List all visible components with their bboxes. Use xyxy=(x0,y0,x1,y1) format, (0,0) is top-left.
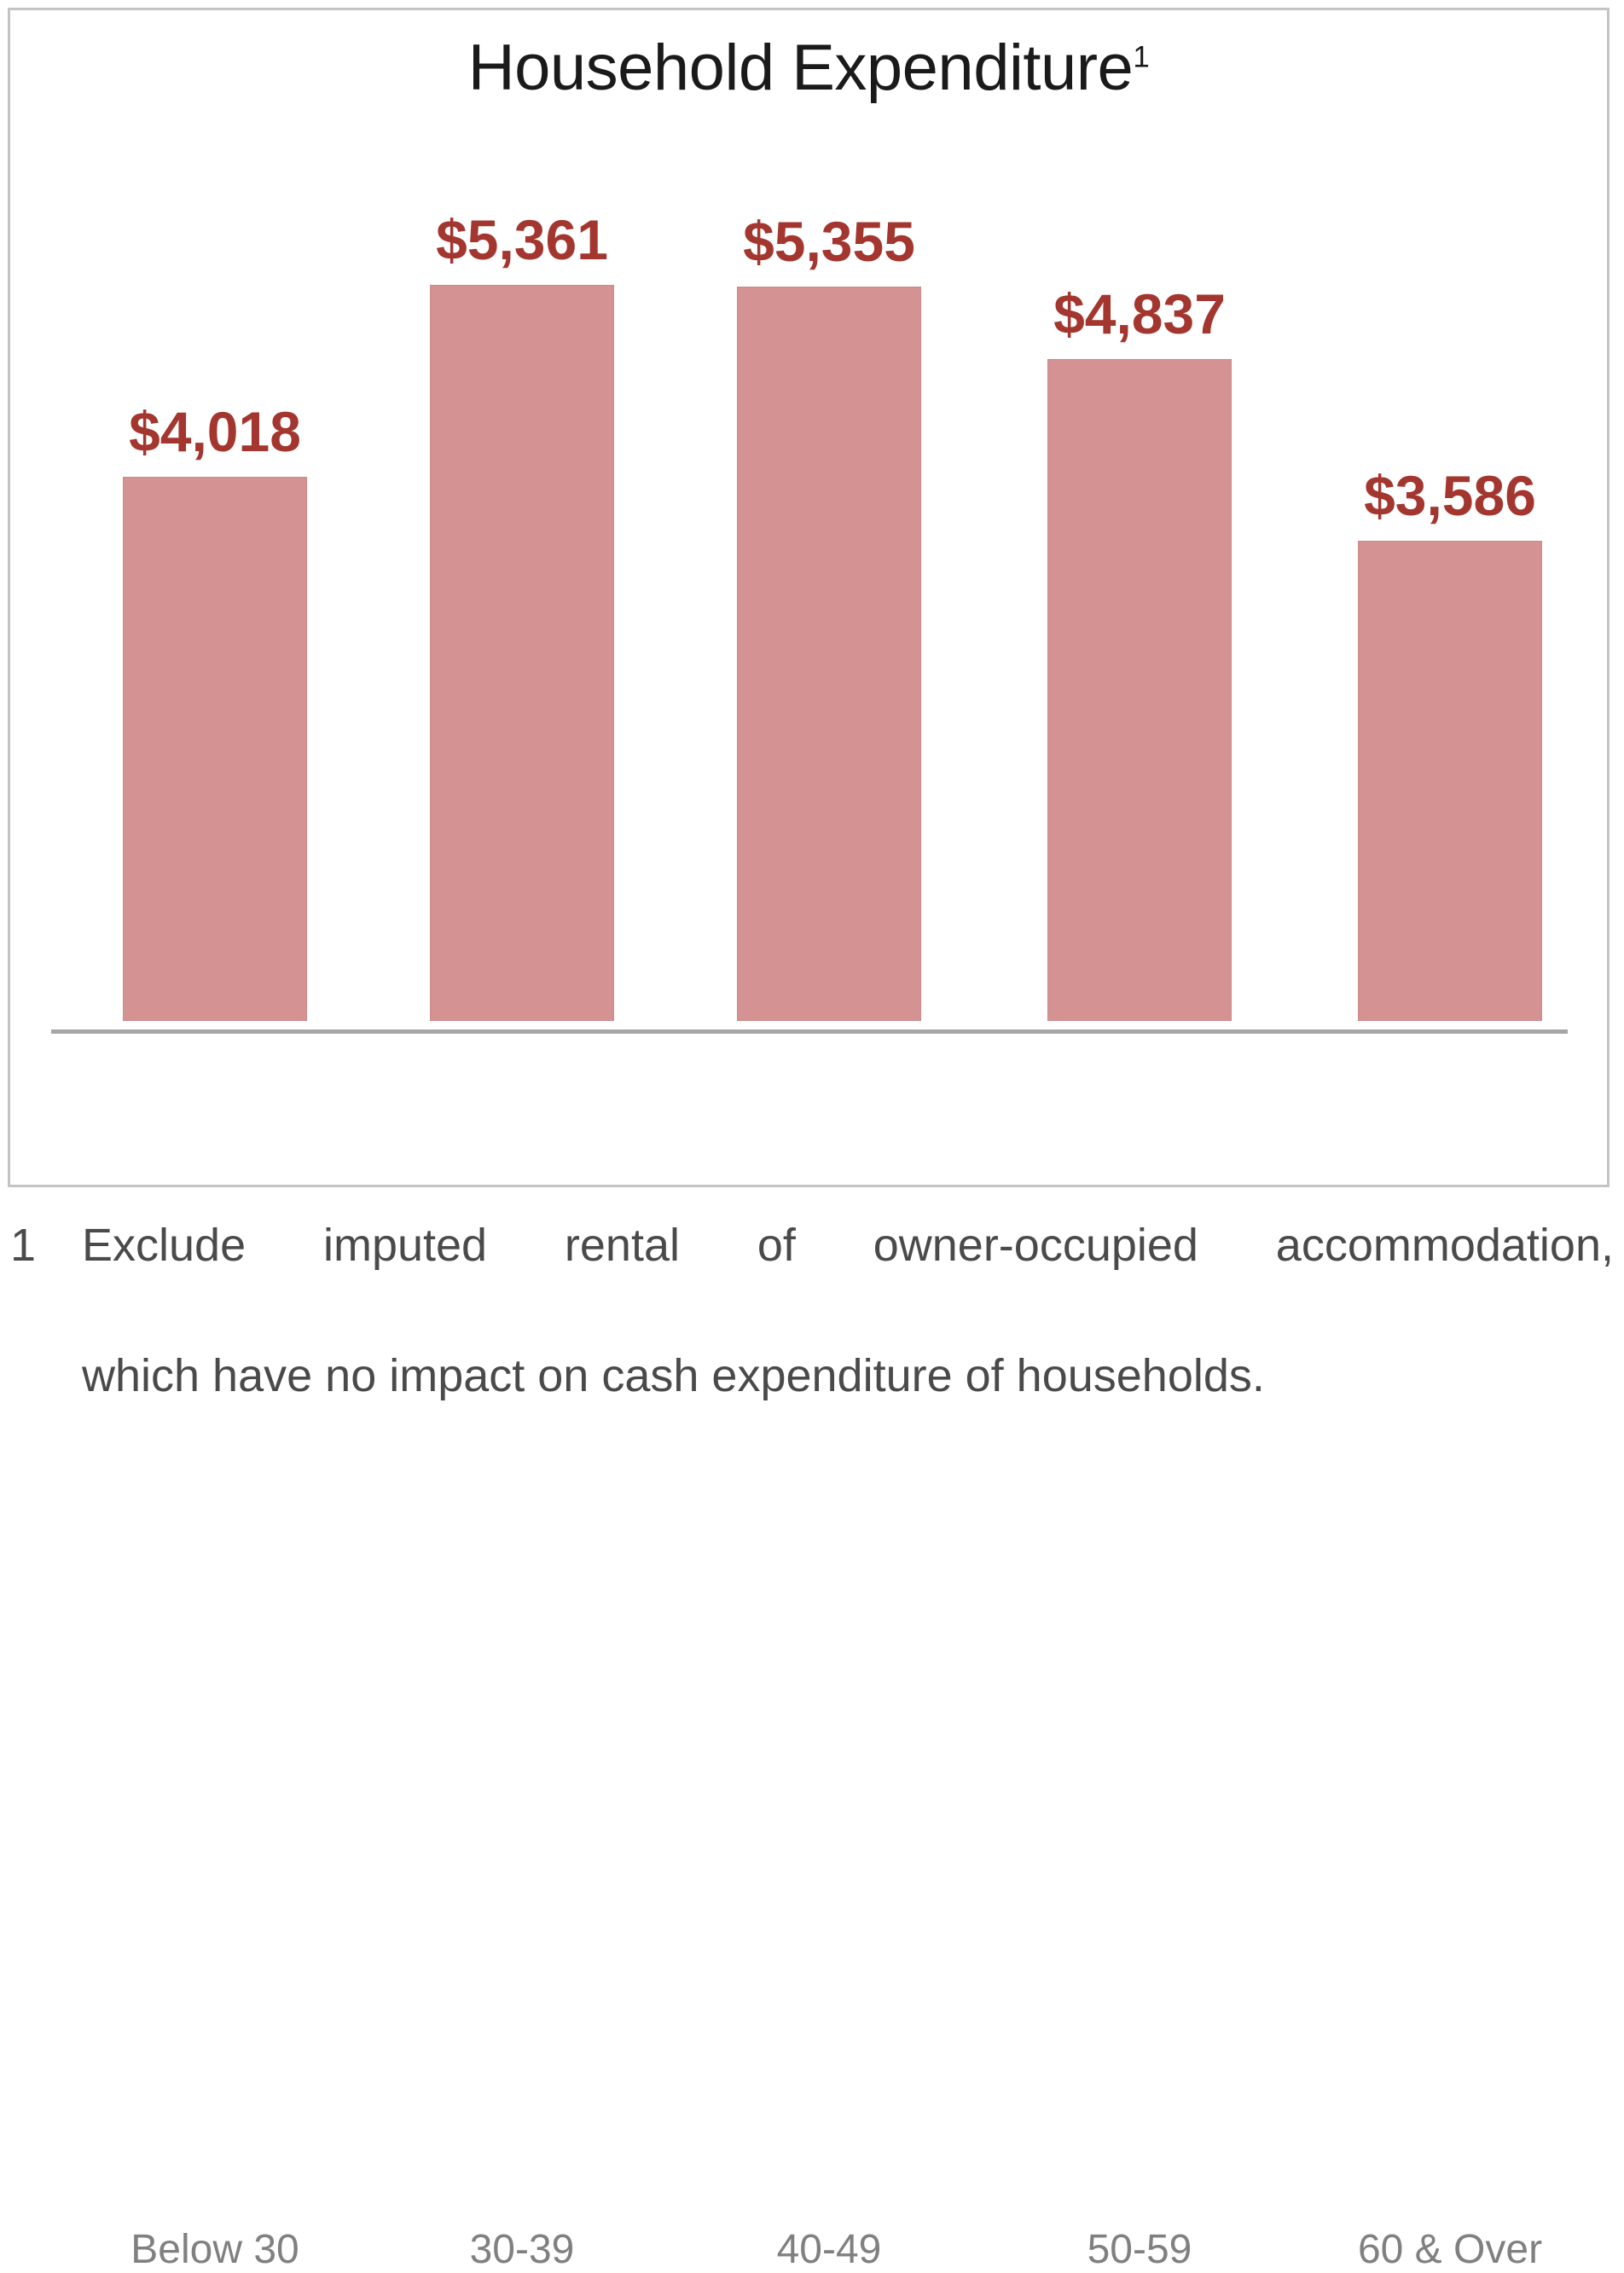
chart-page: Household Expenditure1 $4,018 Below 30 $… xyxy=(0,0,1624,1397)
bar-value-label: $4,018 xyxy=(72,399,358,464)
bar-value-label: $4,837 xyxy=(996,281,1283,346)
footnote-text: Exclude imputed rental of owner-occupied… xyxy=(82,1213,1614,1409)
chart-frame: Household Expenditure1 $4,018 Below 30 $… xyxy=(8,8,1609,1187)
bar[interactable] xyxy=(1047,359,1232,1021)
category-label: 30-39 xyxy=(360,2226,684,2273)
category-label: Below 30 xyxy=(53,2226,377,2273)
plot-area: $4,018 Below 30 $5,361 30-39 $5,355 40-4… xyxy=(10,10,1607,1185)
footnote-row: 1 Exclude imputed rental of owner-occupi… xyxy=(10,1213,1614,1409)
category-label: 40-49 xyxy=(667,2226,991,2273)
bar-value-label: $5,361 xyxy=(379,207,665,272)
x-axis-line xyxy=(51,1029,1568,1034)
category-label: 50-59 xyxy=(977,2226,1302,2273)
footnote: 1 Exclude imputed rental of owner-occupi… xyxy=(10,1213,1614,1409)
footnote-line-1: Exclude imputed rental of owner-occupied… xyxy=(82,1213,1614,1343)
category-label: 60 & Over xyxy=(1288,2226,1612,2273)
bar[interactable] xyxy=(1358,541,1542,1021)
footnote-marker: 1 xyxy=(10,1213,82,1279)
bar[interactable] xyxy=(123,477,307,1021)
bar[interactable] xyxy=(430,285,614,1021)
bar-value-label: $3,586 xyxy=(1307,463,1593,528)
bar[interactable] xyxy=(737,287,921,1021)
footnote-line-2: which have no impact on cash expenditure… xyxy=(82,1343,1614,1409)
bar-value-label: $5,355 xyxy=(686,209,972,274)
